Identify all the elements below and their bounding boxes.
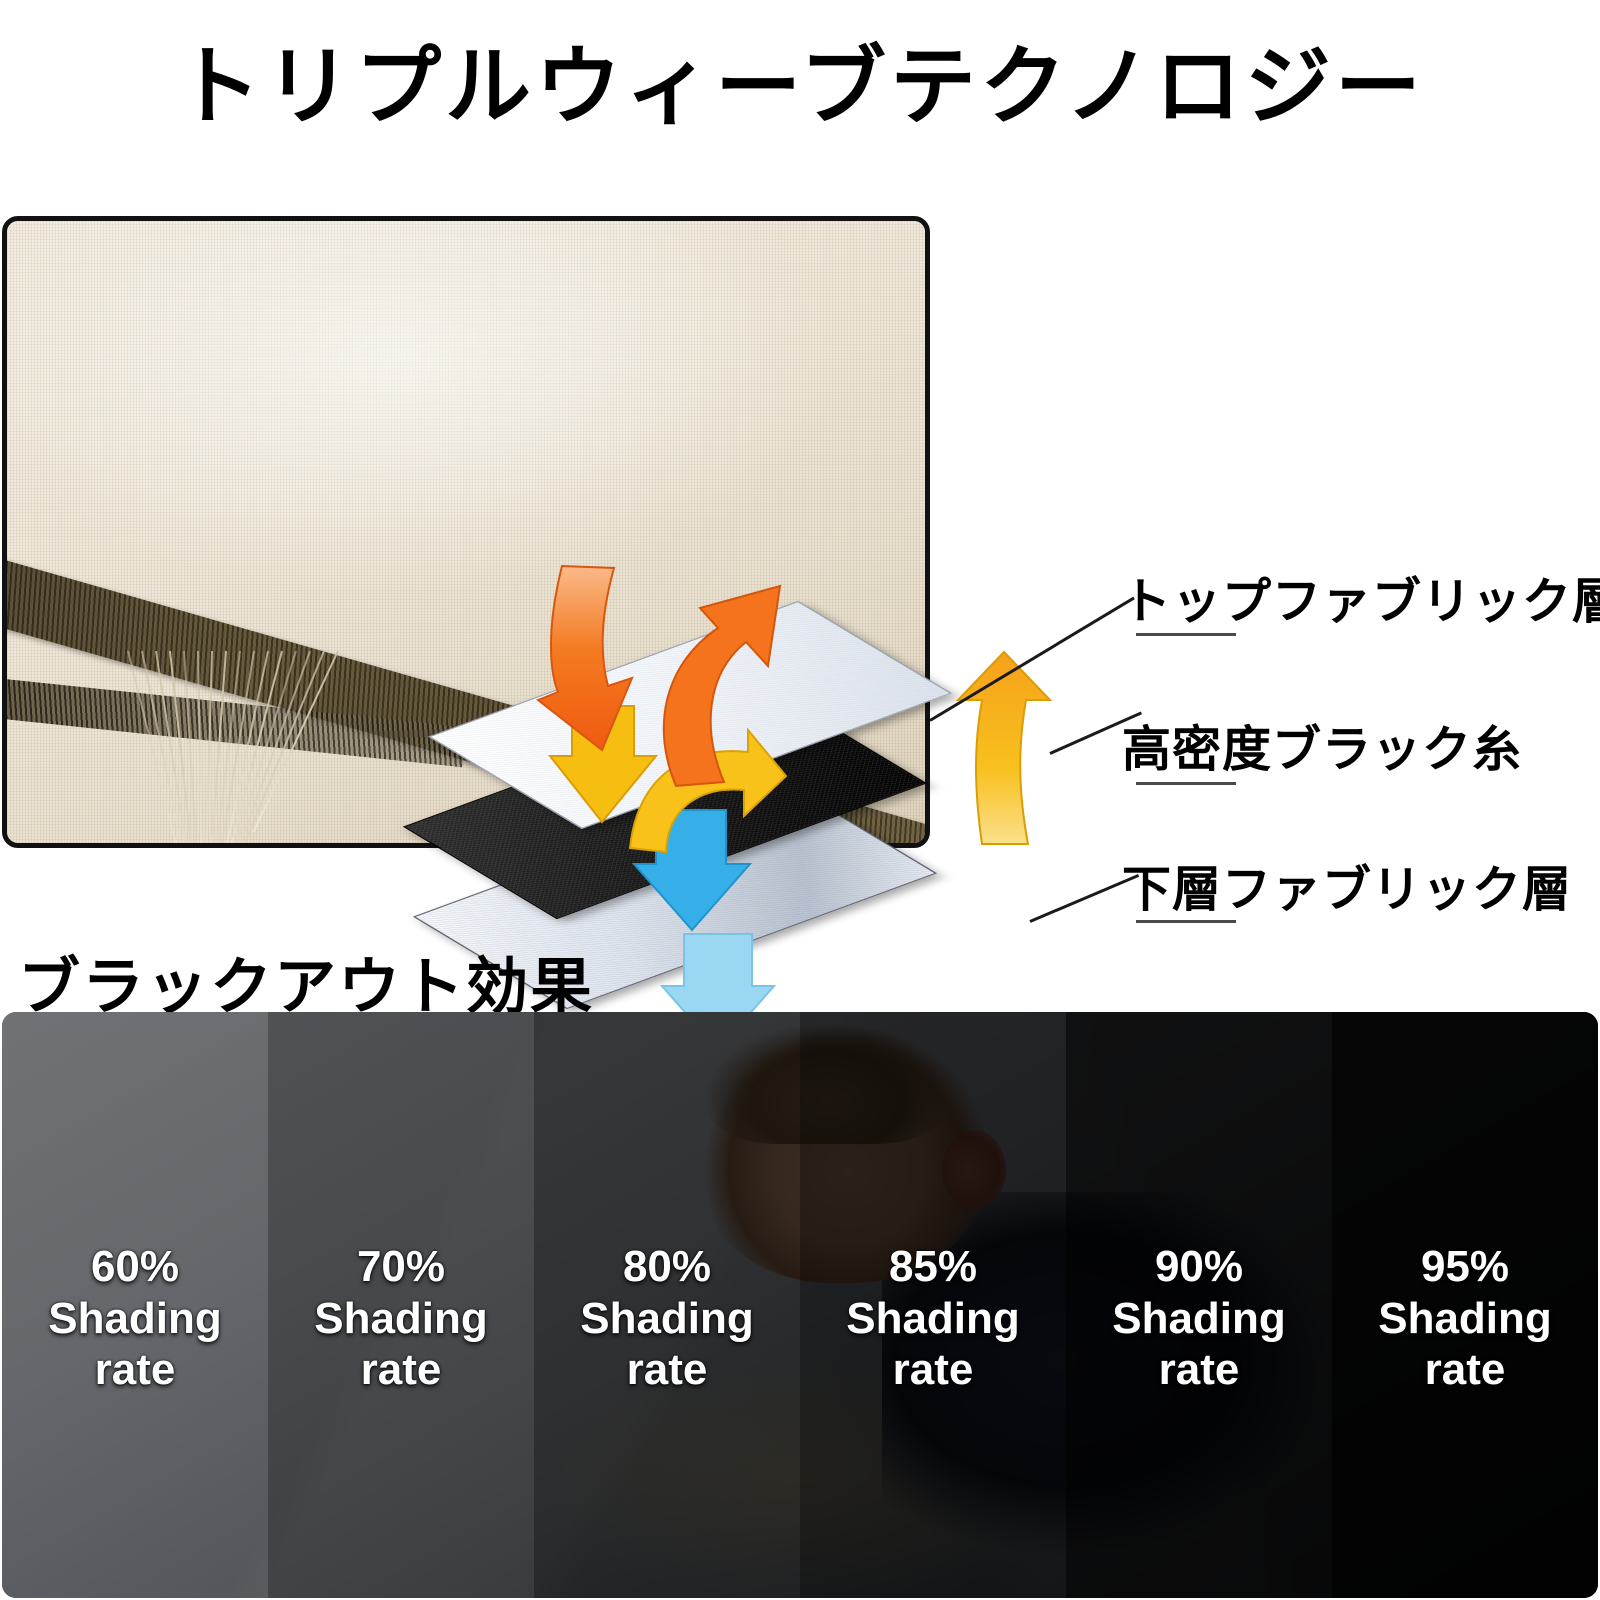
shading-panel-text: 90%Shadingrate xyxy=(1112,1241,1286,1395)
rate-word-label: rate xyxy=(1378,1344,1552,1395)
shading-panel: 80%Shadingrate xyxy=(534,1012,800,1598)
page-title: トリプルウィーブテクノロジー xyxy=(0,42,1600,132)
reflected-light-arrow-icon xyxy=(622,580,802,790)
shading-word-label: Shading xyxy=(846,1293,1020,1344)
shading-panel-text: 95%Shadingrate xyxy=(1378,1241,1552,1395)
layer-label-top: トップファブリック層 xyxy=(1122,578,1600,627)
rate-word-label: rate xyxy=(314,1344,488,1395)
leader-line-middle-horizontal xyxy=(1136,782,1236,785)
rate-word-label: rate xyxy=(48,1344,222,1395)
shading-panel: 85%Shadingrate xyxy=(800,1012,1066,1598)
shading-percentage: 95% xyxy=(1378,1241,1552,1293)
leader-line-top-horizontal xyxy=(1136,633,1236,636)
shading-word-label: Shading xyxy=(314,1293,488,1344)
shading-percentage: 60% xyxy=(48,1241,222,1293)
shading-panel-text: 70%Shadingrate xyxy=(314,1241,488,1395)
shading-panel-text: 85%Shadingrate xyxy=(846,1241,1020,1395)
leader-line-bottom-horizontal xyxy=(1136,920,1236,923)
layer-label-middle: 高密度ブラック糸 xyxy=(1122,726,1522,775)
loose-threads xyxy=(127,651,457,848)
shading-word-label: Shading xyxy=(1378,1293,1552,1344)
layer-label-bottom: 下層ファブリック層 xyxy=(1122,866,1572,915)
shading-panel-text: 60%Shadingrate xyxy=(48,1241,222,1395)
shading-word-label: Shading xyxy=(48,1293,222,1344)
rate-word-label: rate xyxy=(1112,1344,1286,1395)
shading-panel: 90%Shadingrate xyxy=(1066,1012,1332,1598)
shading-panel: 60%Shadingrate xyxy=(2,1012,268,1598)
rate-word-label: rate xyxy=(846,1344,1020,1395)
shading-panel: 95%Shadingrate xyxy=(1332,1012,1598,1598)
shading-panel: 70%Shadingrate xyxy=(268,1012,534,1598)
shading-word-label: Shading xyxy=(580,1293,754,1344)
shading-word-label: Shading xyxy=(1112,1293,1286,1344)
shading-percentage: 80% xyxy=(580,1241,754,1293)
shading-percentage: 90% xyxy=(1112,1241,1286,1293)
rate-word-label: rate xyxy=(580,1344,754,1395)
shading-percentage: 70% xyxy=(314,1241,488,1293)
shading-percentage: 85% xyxy=(846,1241,1020,1293)
blackout-comparison-strip: 60%Shadingrate70%Shadingrate80%Shadingra… xyxy=(2,1012,1598,1598)
shading-panel-text: 80%Shadingrate xyxy=(580,1241,754,1395)
